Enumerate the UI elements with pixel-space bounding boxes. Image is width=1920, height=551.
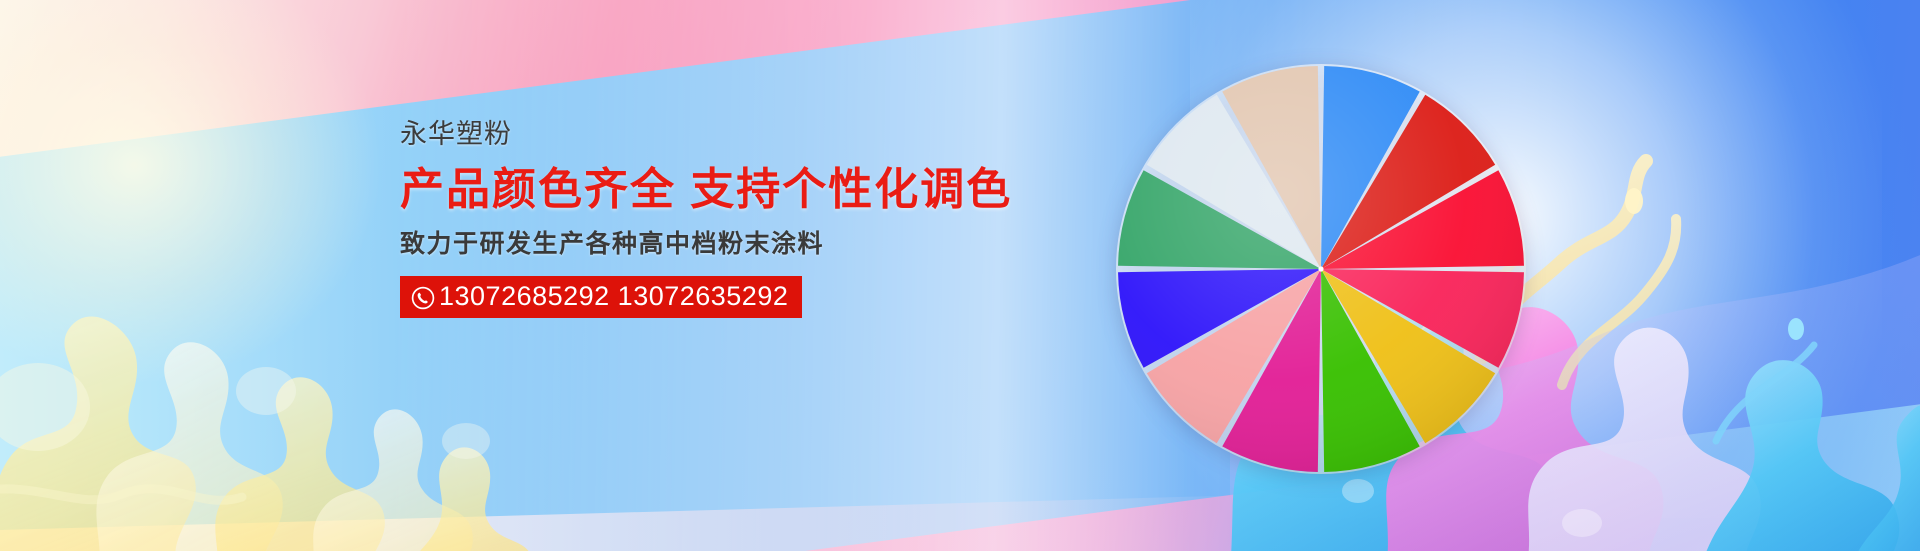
color-wheel[interactable]	[1112, 60, 1530, 478]
phone-circle-icon	[411, 286, 435, 310]
brand-name: 永华塑粉	[400, 118, 1020, 150]
promo-banner: 永华塑粉 产品颜色齐全 支持个性化调色 致力于研发生产各种高中档粉末涂料 130…	[0, 0, 1920, 551]
phone-numbers: 13072685292 13072635292	[439, 282, 788, 311]
phone-badge[interactable]: 13072685292 13072635292	[400, 276, 802, 318]
background-glow-left	[0, 0, 384, 386]
copy-block: 永华塑粉 产品颜色齐全 支持个性化调色 致力于研发生产各种高中档粉末涂料 130…	[400, 118, 1020, 318]
headline-text: 产品颜色齐全 支持个性化调色	[400, 163, 1020, 217]
subheadline-text: 致力于研发生产各种高中档粉末涂料	[400, 229, 1020, 260]
